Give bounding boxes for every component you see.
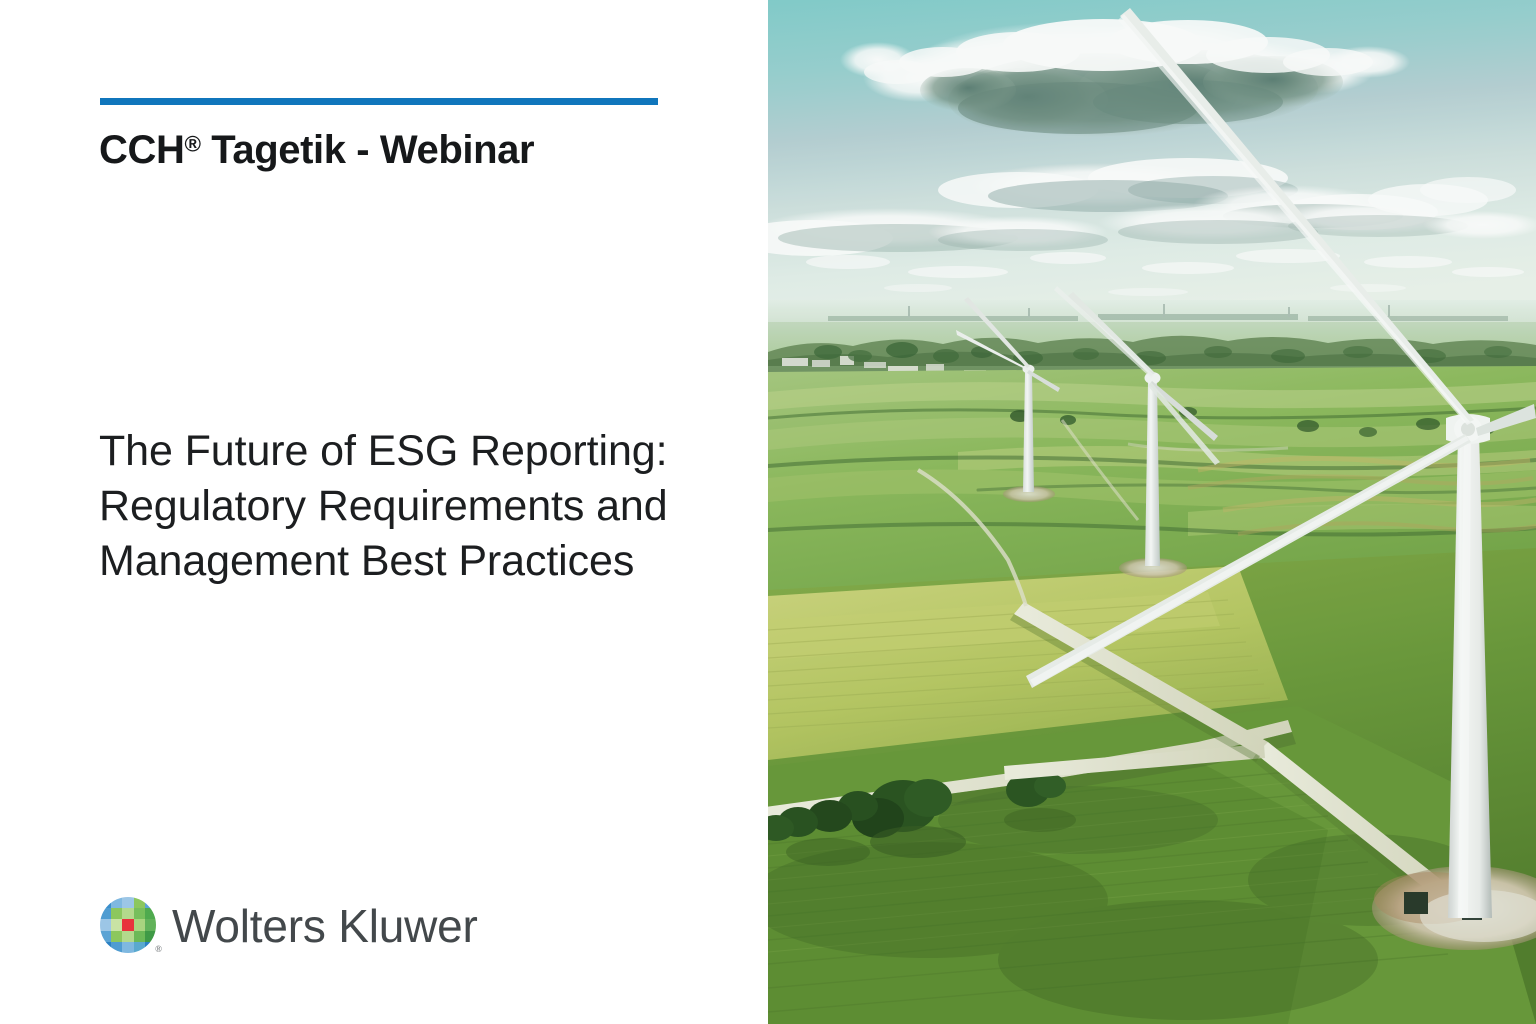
aerial-wind-farm-photograph — [768, 0, 1536, 1024]
eyebrow-suffix: Tagetik - Webinar — [201, 128, 535, 172]
wolters-kluwer-logo: ® Wolters Kluwer — [100, 897, 478, 955]
wind-farm-illustration — [768, 0, 1536, 1024]
page-title: The Future of ESG Reporting: Regulatory … — [99, 424, 719, 589]
logo-registered-trademark-icon: ® — [155, 945, 162, 954]
slide-root: CCH® Tagetik - Webinar The Future of ESG… — [0, 0, 1536, 1024]
left-content-panel: CCH® Tagetik - Webinar The Future of ESG… — [0, 0, 768, 1024]
registered-trademark-icon: ® — [184, 131, 200, 156]
eyebrow-prefix: CCH — [99, 128, 184, 172]
photo-tone-overlay — [768, 0, 1536, 1024]
webinar-eyebrow-title: CCH® Tagetik - Webinar — [99, 128, 534, 173]
wolters-kluwer-mark-wrap: ® — [100, 897, 158, 955]
wolters-kluwer-mosaic-circle-icon — [100, 897, 156, 953]
wolters-kluwer-wordmark: Wolters Kluwer — [172, 903, 478, 949]
brand-accent-rule — [100, 98, 658, 105]
